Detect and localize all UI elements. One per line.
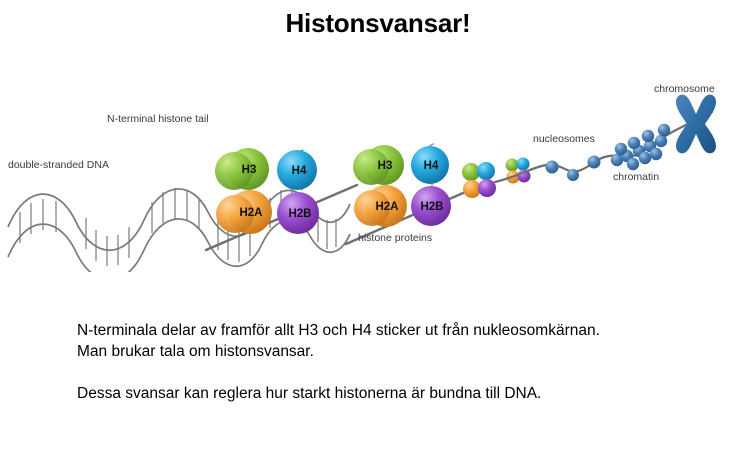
histone-sphere-label-h4: H4 — [292, 165, 307, 177]
histone-sphere-label-h2a: H2A — [239, 207, 262, 219]
label-nucleosomes: nucleosomes — [533, 133, 595, 145]
nucleosome-bead — [588, 156, 601, 169]
nucleosome-bead — [567, 169, 579, 181]
histone-octamer-cluster-2: H3 H4 H2A H2B — [353, 144, 451, 227]
nucleosome-beads — [546, 156, 601, 182]
body-text-block: N-terminala delar av framför allt H3 och… — [77, 320, 697, 404]
histone-sphere-label-h2b: H2B — [288, 208, 311, 220]
histone-sphere-label-h2b-2: H2B — [420, 201, 443, 213]
chromatin-bead-cluster — [611, 124, 670, 170]
histone-sphere-label-h2a-2: H2A — [375, 201, 398, 213]
label-double-stranded-dna: double-stranded DNA — [8, 159, 109, 171]
histone-octamer-cluster-3 — [462, 162, 496, 198]
paragraph-1-line-2: Man brukar tala om histonsvansar. — [77, 341, 697, 362]
paragraph-1-line-1: N-terminala delar av framför allt H3 och… — [77, 320, 697, 341]
histone-octamer-cluster-1: H3 H4 H2A H2B — [215, 148, 319, 234]
histone-sphere-label-h3: H3 — [242, 164, 257, 176]
label-histone-proteins: histone proteins — [358, 232, 432, 244]
paragraph-spacer — [77, 362, 697, 383]
label-chromatin: chromatin — [613, 171, 659, 183]
page-title: Histonsvansar! — [0, 8, 756, 39]
histone-sphere-label-h4-2: H4 — [424, 160, 439, 172]
label-chromosome: chromosome — [654, 83, 715, 95]
histone-sphere-h2b-3 — [478, 179, 496, 197]
histone-sphere-label-h3-2: H3 — [378, 160, 393, 172]
slide-canvas: Histonsvansar! — [0, 0, 756, 474]
dna-packaging-diagram: H3 H4 H2A H2B H3 H4 — [0, 72, 756, 272]
histone-sphere-h4-4 — [517, 158, 530, 171]
label-n-terminal-histone-tail: N-terminal histone tail — [107, 113, 209, 125]
nucleosome-bead — [546, 161, 559, 174]
histone-sphere-h3-4 — [506, 159, 519, 172]
histone-sphere-h4-3 — [477, 162, 495, 180]
paragraph-2: Dessa svansar kan reglera hur starkt his… — [77, 383, 697, 404]
chromosome-shape — [676, 95, 716, 154]
